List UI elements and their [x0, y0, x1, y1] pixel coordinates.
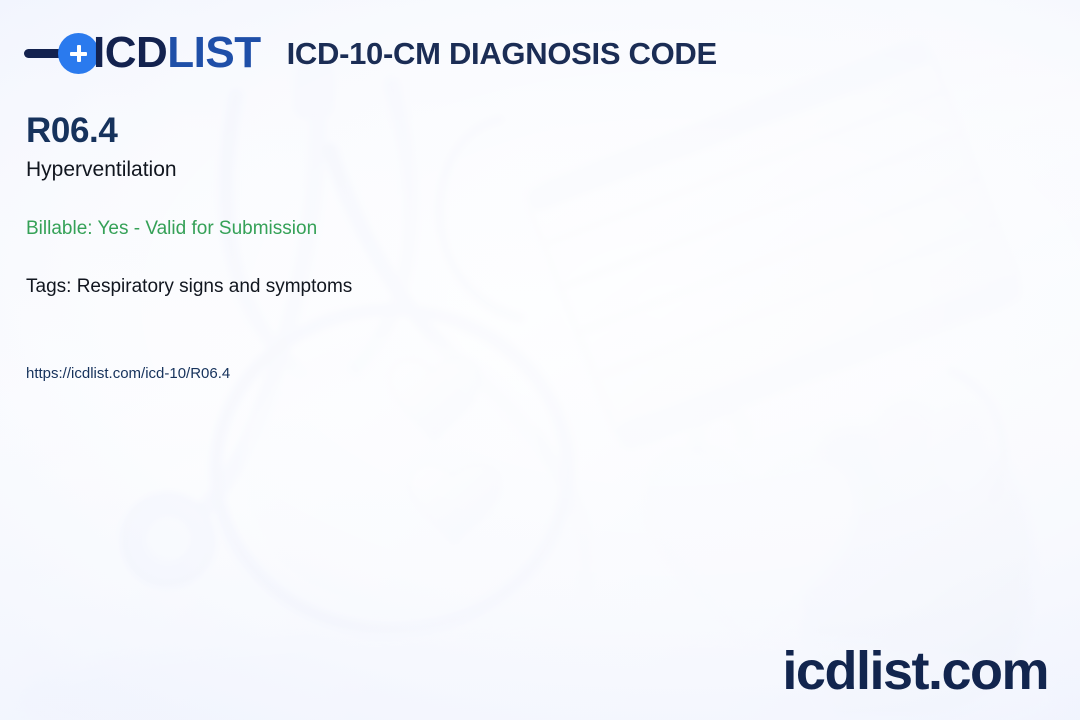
tags-line: Tags: Respiratory signs and symptoms	[26, 276, 666, 299]
code-details: R06.4 Hyperventilation Billable: Yes - V…	[26, 112, 666, 383]
page-title: ICD-10-CM DIAGNOSIS CODE	[287, 38, 717, 69]
page-header: ICDLIST ICD-10-CM DIAGNOSIS CODE	[24, 26, 717, 80]
logo-text-icd: ICD	[93, 28, 167, 77]
site-watermark: icdlist.com	[782, 644, 1048, 698]
icd-code-card: ICDLIST ICD-10-CM DIAGNOSIS CODE R06.4 H…	[0, 0, 1080, 720]
diagnosis-description: Hyperventilation	[26, 157, 666, 182]
billable-status: Billable: Yes - Valid for Submission	[26, 218, 666, 241]
logo-text-list: LIST	[167, 28, 260, 77]
icdlist-logo[interactable]: ICDLIST	[24, 26, 261, 80]
diagnosis-code: R06.4	[26, 112, 666, 151]
source-url[interactable]: https://icdlist.com/icd-10/R06.4	[26, 365, 666, 383]
